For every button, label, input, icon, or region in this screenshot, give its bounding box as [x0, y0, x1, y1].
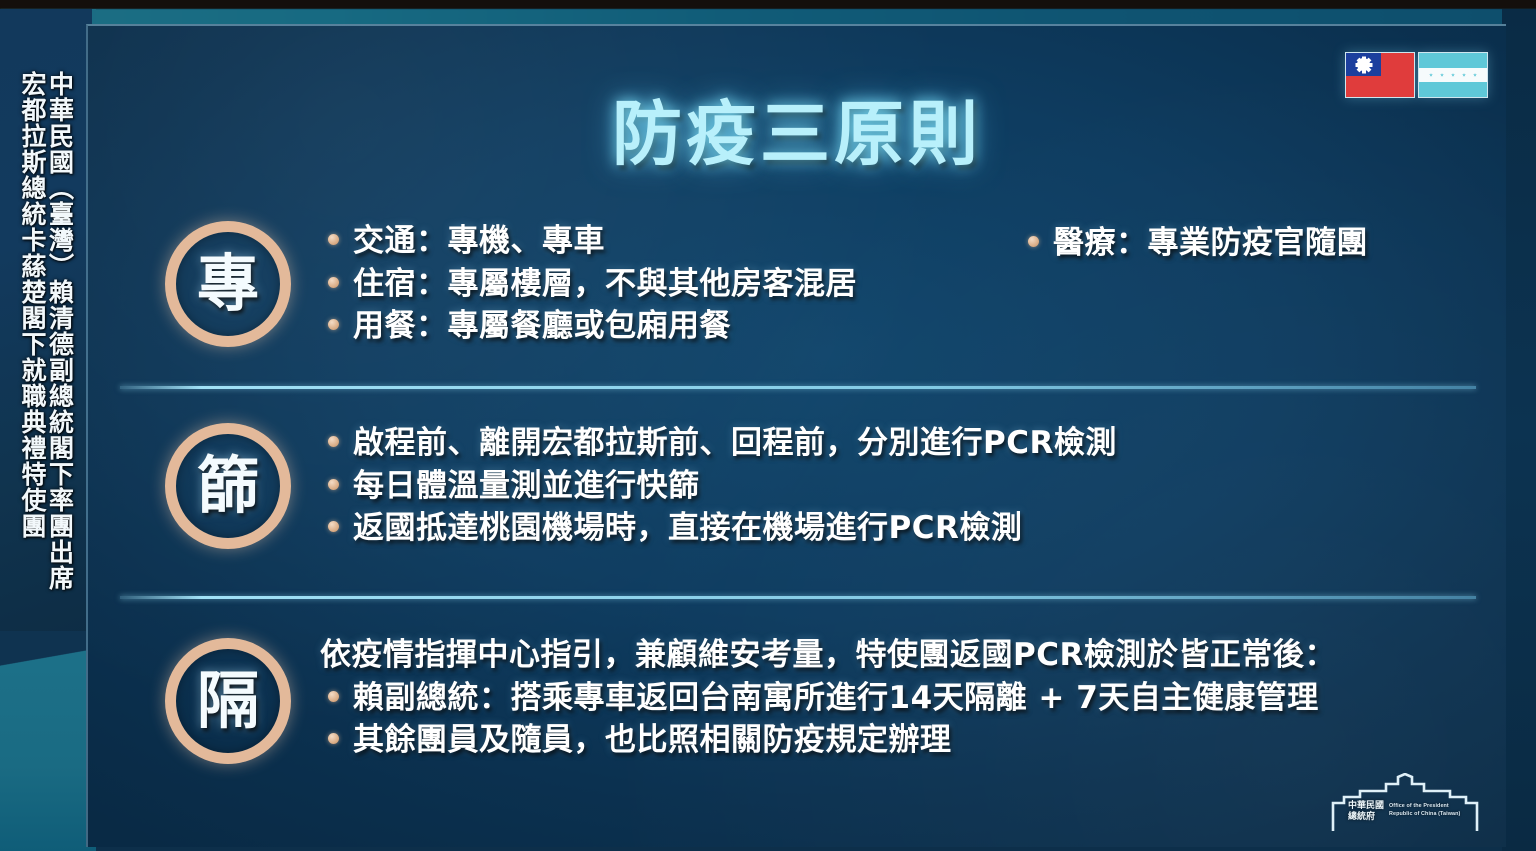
bullet-dot-icon: [328, 691, 339, 702]
section-ge-badge: 隔: [128, 638, 328, 764]
section-glyph: 篩: [197, 455, 259, 517]
circle-badge: 隔: [165, 638, 291, 764]
section-ge-lead-text: 依疫情指揮中心指引，兼顧維安考量，特使團返國PCR檢測於皆正常後：: [320, 637, 1503, 674]
section-zhuan-right-column: 醫療：專業防疫官隨團: [1028, 217, 1503, 351]
bullet-dot-icon: [328, 436, 339, 447]
section-ge: 隔 依疫情指揮中心指引，兼顧維安考量，特使團返國PCR檢測於皆正常後： 賴副總統…: [128, 606, 1503, 796]
bullet-dot-icon: [328, 521, 339, 532]
bullet-text: 其餘團員及隨員，也比照相關防疫規定辦理: [353, 722, 952, 759]
section-zhuan-body: 交通：專機、專車 住宿：專屬樓層，不與其他房客混居 用餐：專屬餐廳或包廂用餐: [328, 217, 1503, 351]
section-zhuan: 專 交通：專機、專車 住宿：專屬樓層，不與其他房客混居: [128, 186, 1503, 382]
section-shai: 篩 啟程前、離開宏都拉斯前、回程前，分別進行PCR檢測 每日體溫量測並進行快篩 …: [128, 396, 1503, 576]
bullet-text: 交通：專機、專車: [353, 223, 605, 260]
list-item: 醫療：專業防疫官隨團: [1028, 225, 1503, 262]
bullet-dot-icon: [328, 234, 339, 245]
event-banner-line-2: 宏都拉斯總統卡蕬楚閣下就職典禮特使團: [20, 71, 46, 671]
office-of-the-president-logo: 中華民國 總統府 Office of the President Republi…: [1330, 773, 1480, 835]
list-item: 其餘團員及隨員，也比照相關防疫規定辦理: [328, 722, 1503, 759]
event-banner: 中華民國（臺灣）賴清德副總統閣下率團出席 宏都拉斯總統卡蕬楚閣下就職典禮特使團: [0, 9, 92, 649]
list-item: 每日體溫量測並進行快篩: [328, 468, 1503, 505]
event-banner-text: 中華民國（臺灣）賴清德副總統閣下率團出席 宏都拉斯總統卡蕬楚閣下就職典禮特使團: [0, 71, 92, 671]
circle-badge: 篩: [165, 423, 291, 549]
list-item: 住宿：專屬樓層，不與其他房客混居: [328, 266, 1028, 303]
list-item: 賴副總統：搭乘專車返回台南寓所進行14天隔離 + 7天自主健康管理: [328, 680, 1503, 717]
logo-chinese-name: 中華民國 總統府: [1348, 801, 1384, 824]
list-item: 返國抵達桃園機場時，直接在機場進行PCR檢測: [328, 510, 1503, 547]
list-item: 用餐：專屬餐廳或包廂用餐: [328, 308, 1028, 345]
backdrop-teal-band: [0, 9, 1536, 25]
list-item: 交通：專機、專車: [328, 223, 1028, 260]
section-shai-body: 啟程前、離開宏都拉斯前、回程前，分別進行PCR檢測 每日體溫量測並進行快篩 返國…: [328, 419, 1503, 553]
slide-title: 防疫三原則: [88, 78, 1506, 179]
list-item: 啟程前、離開宏都拉斯前、回程前，分別進行PCR檢測: [328, 425, 1503, 462]
logo-english-name: Office of the President Republic of Chin…: [1389, 801, 1460, 819]
section-glyph: 隔: [197, 670, 259, 732]
section-zhuan-left-column: 交通：專機、專車 住宿：專屬樓層，不與其他房客混居 用餐：專屬餐廳或包廂用餐: [328, 217, 1028, 351]
bullet-dot-icon: [328, 733, 339, 744]
presentation-screen: 中華民國（臺灣）賴清德副總統閣下率團出席 宏都拉斯總統卡蕬楚閣下就職典禮特使團: [0, 0, 1536, 851]
bullet-dot-icon: [328, 277, 339, 288]
section-shai-badge: 篩: [128, 423, 328, 549]
circle-badge: 專: [165, 221, 291, 347]
bullet-dot-icon: [1028, 236, 1039, 247]
screen-top-bezel: [0, 0, 1536, 9]
bullet-dot-icon: [328, 319, 339, 330]
section-zhuan-badge: 專: [128, 221, 328, 347]
bullet-text: 返國抵達桃園機場時，直接在機場進行PCR檢測: [353, 510, 1022, 547]
slide-panel: 防疫三原則 專 交通：專機、專車 住宿：專屬樓: [86, 24, 1506, 847]
event-banner-line-1: 中華民國（臺灣）賴清德副總統閣下率團出席: [47, 71, 73, 671]
backdrop-right-edge: [1502, 9, 1536, 851]
bullet-text: 每日體溫量測並進行快篩: [353, 468, 700, 505]
section-divider: [120, 386, 1476, 389]
section-glyph: 專: [197, 253, 259, 315]
logo-wordmark: 中華民國 總統府 Office of the President Republi…: [1348, 801, 1460, 824]
bullet-text: 住宿：專屬樓層，不與其他房客混居: [353, 266, 857, 303]
bullet-dot-icon: [328, 479, 339, 490]
section-ge-body: 依疫情指揮中心指引，兼顧維安考量，特使團返國PCR檢測於皆正常後： 賴副總統：搭…: [328, 637, 1503, 765]
taiwan-flag-sun-rays: [1357, 58, 1370, 71]
section-divider: [120, 596, 1476, 599]
bullet-text: 醫療：專業防疫官隨團: [1053, 225, 1368, 262]
bullet-text: 用餐：專屬餐廳或包廂用餐: [353, 308, 731, 345]
bullet-text: 啟程前、離開宏都拉斯前、回程前，分別進行PCR檢測: [353, 425, 1117, 462]
honduras-flag-top-band: [1419, 53, 1487, 68]
bullet-text: 賴副總統：搭乘專車返回台南寓所進行14天隔離 + 7天自主健康管理: [353, 680, 1319, 717]
